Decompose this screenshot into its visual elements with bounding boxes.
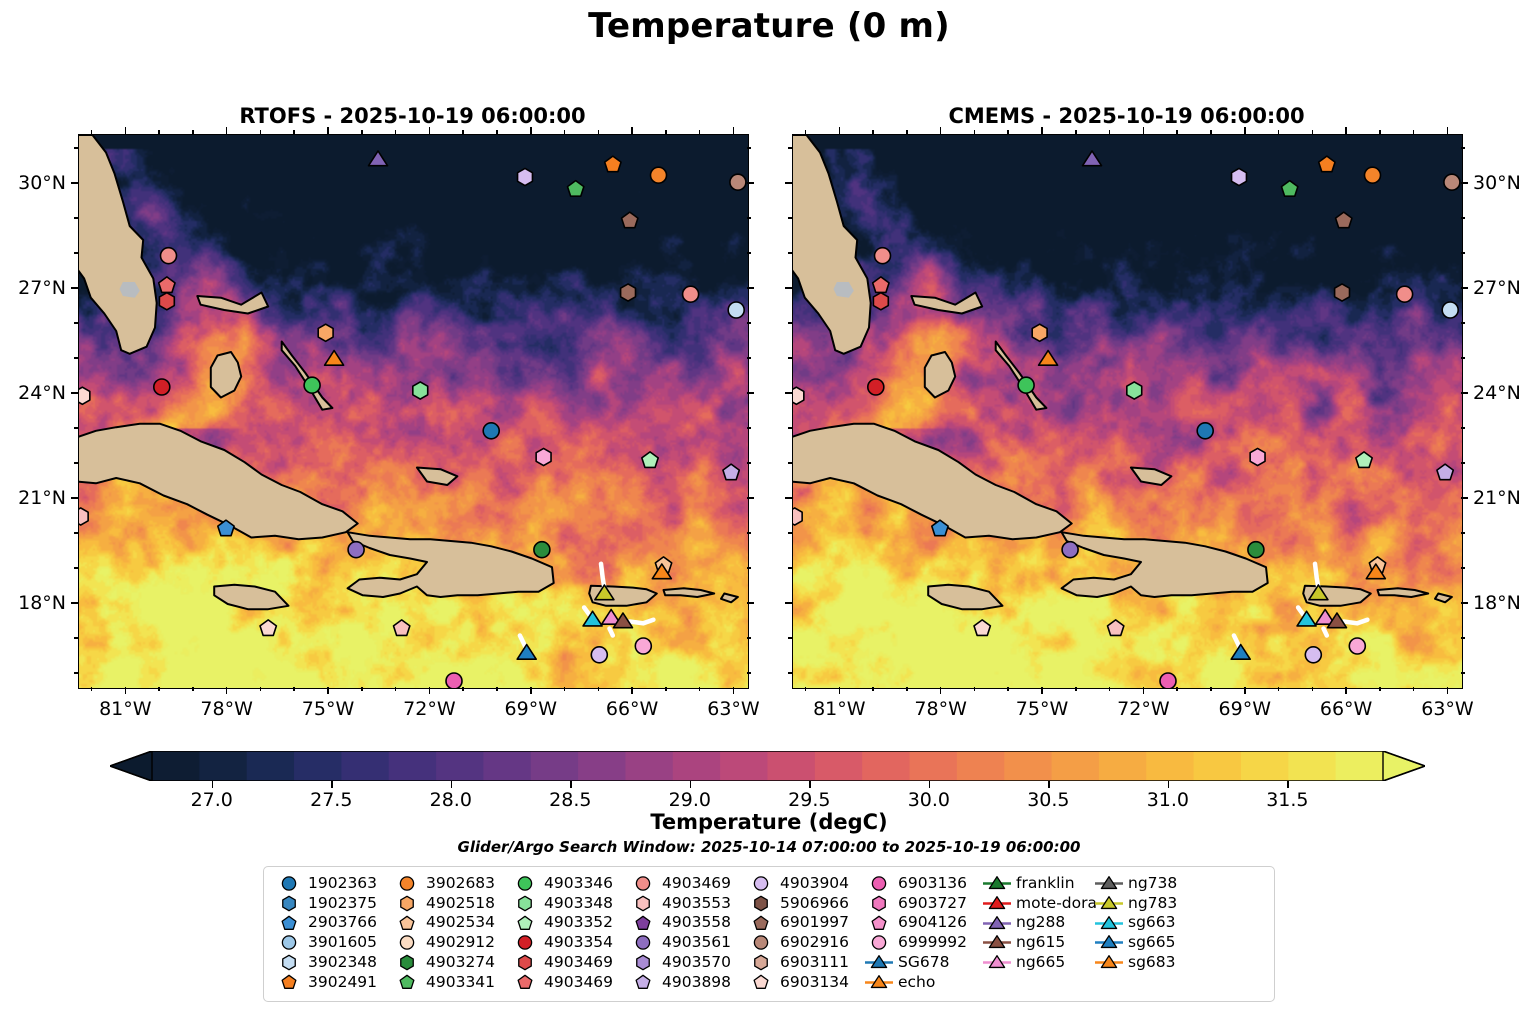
legend-column: 4903346490334849033524903354490346949034… [510, 874, 628, 997]
legend-entry-4903558[interactable]: 4903558 [628, 913, 746, 933]
legend-label: 4903346 [540, 876, 613, 892]
legend-label: 4903558 [658, 915, 731, 931]
x-minor-tick [974, 687, 976, 691]
x-tick-label: 75°W [1016, 698, 1068, 720]
map-marker-4903274[interactable] [534, 542, 550, 558]
map-marker-6903134[interactable] [793, 387, 804, 404]
circle-marker-icon [864, 874, 894, 893]
circle-marker-icon [274, 874, 304, 893]
map-marker-1902363[interactable] [1197, 423, 1213, 439]
map-marker-4903904[interactable] [1305, 647, 1321, 663]
x-minor-tick [496, 130, 498, 134]
map-marker-4903469[interactable] [683, 286, 699, 302]
colorbar-tick [1048, 781, 1050, 788]
x-tick [125, 687, 127, 694]
y-tick [785, 392, 792, 394]
x-minor-tick [1413, 130, 1415, 134]
colorbar-segment [815, 751, 863, 781]
y-minor-tick [747, 532, 751, 534]
x-tick-top [733, 127, 735, 134]
legend-entry-ng615[interactable]: ng615 [982, 933, 1094, 953]
track-marker-icon [864, 973, 894, 992]
x-minor-tick [1312, 687, 1314, 691]
x-minor-tick [906, 130, 908, 134]
map-marker-6902916[interactable] [730, 174, 746, 190]
legend-label: 4903341 [422, 975, 495, 991]
colorbar-segment [720, 751, 768, 781]
y-minor-tick [747, 637, 751, 639]
pentagon-marker-icon [274, 973, 304, 992]
map-marker-6901997[interactable] [1335, 284, 1350, 301]
x-minor-tick [1379, 130, 1381, 134]
legend-label: echo [894, 975, 935, 991]
colorbar-extend-min [110, 751, 152, 781]
colorbar-segment [1052, 751, 1100, 781]
map-marker-3902348[interactable] [1442, 302, 1458, 318]
legend-entry-6999992[interactable]: 6999992 [864, 933, 982, 953]
legend-entry-4903341[interactable]: 4903341 [392, 972, 510, 992]
legend-label: 4903354 [540, 935, 613, 951]
y-minor-tick [788, 427, 792, 429]
legend-entry-6902916[interactable]: 6902916 [746, 933, 864, 953]
legend-entry-3902491[interactable]: 3902491 [274, 972, 392, 992]
circle-marker-icon [628, 933, 658, 952]
x-tick-top [327, 127, 329, 134]
track-marker-icon [982, 953, 1012, 972]
legend-entry-sg663[interactable]: sg663 [1094, 913, 1206, 933]
legend-entry-mote-dora[interactable]: mote-dora [982, 894, 1094, 914]
hexagon-marker-icon [274, 894, 304, 913]
circle-marker-icon [746, 874, 776, 893]
map-marker-4903348[interactable] [1127, 382, 1142, 399]
circle-marker-icon [392, 874, 422, 893]
colorbar-segment [768, 751, 816, 781]
x-minor-tick [805, 130, 807, 134]
legend-entry-4903553[interactable]: 4903553 [628, 894, 746, 914]
x-tick [940, 687, 942, 694]
legend-label: 4903274 [422, 955, 495, 971]
map-marker-4903354[interactable] [154, 379, 170, 395]
map-marker-1902363[interactable] [483, 423, 499, 439]
legend-label: 4903348 [540, 896, 613, 912]
map-marker-3902348[interactable] [728, 302, 744, 318]
x-tick-label: 66°W [1320, 698, 1372, 720]
colorbar-extend-max [1383, 751, 1425, 781]
legend-label: 6903134 [776, 975, 849, 991]
y-tick [785, 287, 792, 289]
y-minor-tick [788, 462, 792, 464]
legend-label: 4903469 [540, 955, 613, 971]
x-tick-top [631, 127, 633, 134]
x-tick-label: 81°W [99, 698, 151, 720]
y-minor-tick [747, 147, 751, 149]
y-tick-label: 21°N [18, 487, 66, 509]
map-marker-4903469[interactable] [1397, 286, 1413, 302]
x-minor-tick [1210, 130, 1212, 134]
legend-label: 6999992 [894, 935, 967, 951]
legend-entry-sg683[interactable]: sg683 [1094, 953, 1206, 973]
x-minor-tick [293, 130, 295, 134]
pentagon-marker-icon [864, 914, 894, 933]
y-minor-tick [788, 252, 792, 254]
x-minor-tick [564, 130, 566, 134]
y-minor-tick [1461, 532, 1465, 534]
y-minor-tick [788, 217, 792, 219]
legend-entry-4903570[interactable]: 4903570 [628, 953, 746, 973]
x-tick-top [839, 127, 841, 134]
legend-label: ng738 [1124, 876, 1177, 892]
legend-entry-4902518[interactable]: 4902518 [392, 894, 510, 914]
legend-column: 4903469490355349035584903561490357049038… [628, 874, 746, 997]
hexagon-marker-icon [274, 953, 304, 972]
y-tick [785, 182, 792, 184]
y-minor-tick [74, 217, 78, 219]
x-tick [733, 687, 735, 694]
x-minor-tick [805, 687, 807, 691]
colorbar-tick [690, 781, 692, 788]
pentagon-marker-icon [510, 973, 540, 992]
circle-marker-icon [628, 874, 658, 893]
legend-entry-6903727[interactable]: 6903727 [864, 894, 982, 914]
legend-entry-4903469[interactable]: 4903469 [628, 874, 746, 894]
colorbar-tick-label: 31.5 [1266, 789, 1308, 811]
x-tick-label: 75°W [302, 698, 354, 720]
x-minor-tick [699, 130, 701, 134]
hexagon-marker-icon [392, 953, 422, 972]
x-minor-tick [564, 687, 566, 691]
legend-entry-echo[interactable]: echo [864, 972, 982, 992]
legend-entry-franklin[interactable]: franklin [982, 874, 1094, 894]
map-marker-6902916[interactable] [1444, 174, 1460, 190]
legend-entry-1902375[interactable]: 1902375 [274, 894, 392, 914]
legend-label: ng665 [1012, 955, 1065, 971]
y-minor-tick [74, 462, 78, 464]
circle-marker-icon [510, 933, 540, 952]
x-tick [1345, 687, 1347, 694]
legend-label: SG678 [894, 955, 949, 971]
y-minor-tick [74, 147, 78, 149]
figure-title: Temperature (0 m) [0, 6, 1538, 46]
legend-entry-4903274[interactable]: 4903274 [392, 953, 510, 973]
x-tick [1041, 687, 1043, 694]
legend-entry-6903136[interactable]: 6903136 [864, 874, 982, 894]
y-minor-tick [747, 252, 751, 254]
x-minor-tick [192, 687, 194, 691]
map-marker-4903561[interactable] [348, 542, 364, 558]
hexagon-marker-icon [746, 894, 776, 913]
colorbar: 27.027.528.028.529.029.530.030.531.031.5 [110, 751, 1425, 781]
pentagon-marker-icon [628, 914, 658, 933]
legend-entry-6903111[interactable]: 6903111 [746, 953, 864, 973]
legend-label: 4902912 [422, 935, 495, 951]
map-marker-4903346[interactable] [304, 377, 320, 393]
legend-entry-ng288[interactable]: ng288 [982, 913, 1094, 933]
x-minor-tick [906, 687, 908, 691]
x-minor-tick [1007, 130, 1009, 134]
map-marker-4903469[interactable] [875, 248, 891, 264]
colorbar-segment [483, 751, 531, 781]
legend-label: 6901997 [776, 915, 849, 931]
y-minor-tick [788, 357, 792, 359]
legend-label: 4903570 [658, 955, 731, 971]
circle-marker-icon [746, 933, 776, 952]
map-marker-4903348[interactable] [413, 382, 428, 399]
colorbar-segment [531, 751, 579, 781]
colorbar-segment [1004, 751, 1052, 781]
panel-cmems: CMEMS - 2025-10-19 06:00:00 81°W78°W75°W… [792, 134, 1461, 687]
map-marker-6999992[interactable] [536, 448, 551, 465]
hexagon-marker-icon [392, 894, 422, 913]
map-marker-4903469[interactable] [873, 293, 888, 310]
legend-column: 1902363190237529037663901605390234839024… [274, 874, 392, 997]
colorbar-tick [809, 781, 811, 788]
legend-column: 3902683490251849025344902912490327449033… [392, 874, 510, 997]
y-minor-tick [74, 567, 78, 569]
y-tick [747, 287, 754, 289]
y-minor-tick [788, 637, 792, 639]
y-tick [1461, 392, 1468, 394]
x-minor-tick [192, 130, 194, 134]
colorbar-tick [929, 781, 931, 788]
colorbar-tick-label: 27.5 [310, 789, 352, 811]
map-marker-6903136[interactable] [1160, 673, 1176, 688]
x-minor-tick [1007, 687, 1009, 691]
y-tick-label: 24°N [1473, 382, 1521, 404]
x-minor-tick [361, 130, 363, 134]
y-tick [71, 392, 78, 394]
x-minor-tick [872, 687, 874, 691]
colorbar-tick [212, 781, 214, 788]
x-minor-tick [598, 130, 600, 134]
map-axes-cmems[interactable] [792, 134, 1463, 689]
y-minor-tick [1461, 672, 1465, 674]
x-minor-tick [1379, 687, 1381, 691]
y-minor-tick [1461, 637, 1465, 639]
legend-entry-4903354[interactable]: 4903354 [510, 933, 628, 953]
map-marker-4902518[interactable] [1032, 324, 1047, 341]
colorbar-tick-label: 28.5 [549, 789, 591, 811]
y-tick [785, 497, 792, 499]
x-minor-tick [395, 130, 397, 134]
y-tick [71, 497, 78, 499]
legend-column: 6903136690372769041266999992SG678echo [864, 874, 982, 997]
y-minor-tick [747, 567, 751, 569]
map-marker-6999992[interactable] [1349, 638, 1365, 654]
legend-label: ng288 [1012, 915, 1065, 931]
legend-entry-3901605[interactable]: 3901605 [274, 933, 392, 953]
colorbar-segment [862, 751, 910, 781]
y-minor-tick [1461, 427, 1465, 429]
y-tick-label: 21°N [1473, 487, 1521, 509]
legend-entry-SG678[interactable]: SG678 [864, 953, 982, 973]
y-tick [71, 182, 78, 184]
map-marker-6999992[interactable] [1250, 448, 1265, 465]
legend-entry-4903561[interactable]: 4903561 [628, 933, 746, 953]
colorbar-segment [578, 751, 626, 781]
colorbar-tick [331, 781, 333, 788]
y-minor-tick [747, 217, 751, 219]
y-tick [1461, 497, 1468, 499]
legend: 1902363190237529037663901605390234839024… [263, 866, 1275, 1002]
pentagon-marker-icon [392, 914, 422, 933]
legend-entry-3902683[interactable]: 3902683 [392, 874, 510, 894]
y-minor-tick [74, 637, 78, 639]
legend-entry-ng665[interactable]: ng665 [982, 953, 1094, 973]
legend-entry-4903469[interactable]: 4903469 [510, 972, 628, 992]
legend-column: 4903904590696669019976902916690311169031… [746, 874, 864, 997]
colorbar-segment [1241, 751, 1289, 781]
pentagon-marker-icon [510, 914, 540, 933]
panel-rtofs-title: RTOFS - 2025-10-19 06:00:00 [78, 104, 747, 128]
y-minor-tick [747, 462, 751, 464]
map-marker-4903274[interactable] [1248, 542, 1264, 558]
legend-entry-4903348[interactable]: 4903348 [510, 894, 628, 914]
legend-entry-4903469[interactable]: 4903469 [510, 953, 628, 973]
colorbar-segment [341, 751, 389, 781]
legend-label: sg683 [1124, 955, 1176, 971]
y-tick [1461, 287, 1468, 289]
map-marker-4903354[interactable] [868, 379, 884, 395]
legend-entry-4902534[interactable]: 4902534 [392, 913, 510, 933]
legend-entry-4903904[interactable]: 4903904 [746, 874, 864, 894]
legend-entry-2903766[interactable]: 2903766 [274, 913, 392, 933]
legend-label: 6903136 [894, 876, 967, 892]
x-tick-label: 81°W [813, 698, 865, 720]
map-axes-rtofs[interactable] [78, 134, 749, 689]
legend-entry-4903898[interactable]: 4903898 [628, 972, 746, 992]
x-tick-top [1345, 127, 1347, 134]
pentagon-marker-icon [746, 973, 776, 992]
legend-label: 4903469 [658, 876, 731, 892]
glider-track [610, 629, 613, 636]
colorbar-segment [152, 751, 200, 781]
y-minor-tick [1461, 217, 1465, 219]
legend-label: sg663 [1124, 915, 1176, 931]
y-minor-tick [74, 427, 78, 429]
legend-entry-1902363[interactable]: 1902363 [274, 874, 392, 894]
legend-label: 4903561 [658, 935, 731, 951]
colorbar-segment [247, 751, 295, 781]
map-marker-4903561[interactable] [1062, 542, 1078, 558]
legend-label: ng783 [1124, 896, 1177, 912]
map-marker-6903136[interactable] [446, 673, 462, 688]
colorbar-segment [910, 751, 958, 781]
y-tick [747, 182, 754, 184]
map-marker-6901997[interactable] [621, 284, 636, 301]
legend-label: sg665 [1124, 935, 1176, 951]
legend-entry-5906966[interactable]: 5906966 [746, 894, 864, 914]
y-minor-tick [74, 672, 78, 674]
x-tick-top [530, 127, 532, 134]
colorbar-segment [1336, 751, 1384, 781]
x-minor-tick [260, 687, 262, 691]
x-minor-tick [260, 130, 262, 134]
legend-label: ng615 [1012, 935, 1065, 951]
y-minor-tick [1461, 252, 1465, 254]
y-tick [747, 497, 754, 499]
legend-entry-6904126[interactable]: 6904126 [864, 913, 982, 933]
y-tick [747, 602, 754, 604]
x-minor-tick [598, 687, 600, 691]
legend-label: 4903553 [658, 896, 731, 912]
legend-label: 6903727 [894, 896, 967, 912]
x-tick-top [429, 127, 431, 134]
pentagon-marker-icon [746, 914, 776, 933]
x-minor-tick [158, 687, 160, 691]
map-marker-3902683[interactable] [651, 167, 667, 183]
map-marker-4902518[interactable] [318, 324, 333, 341]
legend-label: 5906966 [776, 896, 849, 912]
legend-entry-6901997[interactable]: 6901997 [746, 913, 864, 933]
y-tick-label: 24°N [18, 382, 66, 404]
y-tick [71, 287, 78, 289]
x-tick-label: 66°W [606, 698, 658, 720]
legend-entry-4902912[interactable]: 4902912 [392, 933, 510, 953]
map-field [793, 135, 1462, 688]
legend-entry-ng783[interactable]: ng783 [1094, 894, 1206, 914]
legend-label: 1902363 [304, 876, 377, 892]
y-tick [747, 392, 754, 394]
map-marker-4903469[interactable] [161, 248, 177, 264]
x-tick [1143, 687, 1145, 694]
hexagon-marker-icon [628, 953, 658, 972]
map-marker-6999992[interactable] [635, 638, 651, 654]
y-minor-tick [74, 322, 78, 324]
colorbar-segment [1194, 751, 1242, 781]
y-tick-label: 18°N [18, 592, 66, 614]
legend-entry-sg665[interactable]: sg665 [1094, 933, 1206, 953]
x-tick [1244, 687, 1246, 694]
y-tick-label: 27°N [1473, 277, 1521, 299]
map-field [79, 135, 748, 688]
legend-entry-6903134[interactable]: 6903134 [746, 972, 864, 992]
colorbar-segment [1288, 751, 1336, 781]
map-marker-4903904[interactable] [1232, 168, 1247, 185]
hexagon-marker-icon [628, 894, 658, 913]
legend-entry-4903346[interactable]: 4903346 [510, 874, 628, 894]
map-marker-4903904[interactable] [591, 647, 607, 663]
x-minor-tick [462, 687, 464, 691]
hexagon-marker-icon [510, 953, 540, 972]
map-marker-6903134[interactable] [79, 387, 90, 404]
x-minor-tick [1075, 130, 1077, 134]
colorbar-segment [199, 751, 247, 781]
x-minor-tick [395, 687, 397, 691]
circle-marker-icon [274, 933, 304, 952]
legend-label: franklin [1012, 876, 1075, 892]
x-tick-label: 69°W [505, 698, 557, 720]
legend-label: 4903469 [540, 975, 613, 991]
map-marker-4903469[interactable] [159, 293, 174, 310]
legend-entry-3902348[interactable]: 3902348 [274, 953, 392, 973]
map-marker-4903904[interactable] [518, 168, 533, 185]
colorbar-tick [1287, 781, 1289, 788]
pentagon-marker-icon [274, 914, 304, 933]
colorbar-tick-label: 30.0 [908, 789, 950, 811]
legend-label: 6902916 [776, 935, 849, 951]
map-marker-4903346[interactable] [1018, 377, 1034, 393]
x-tick [1447, 687, 1449, 694]
y-tick [1461, 182, 1468, 184]
legend-entry-ng738[interactable]: ng738 [1094, 874, 1206, 894]
x-tick-label: 72°W [403, 698, 455, 720]
y-minor-tick [74, 357, 78, 359]
x-minor-tick [1109, 687, 1111, 691]
map-marker-3902683[interactable] [1365, 167, 1381, 183]
colorbar-tick-label: 29.5 [788, 789, 830, 811]
y-tick-label: 30°N [1473, 172, 1521, 194]
legend-entry-4903352[interactable]: 4903352 [510, 913, 628, 933]
